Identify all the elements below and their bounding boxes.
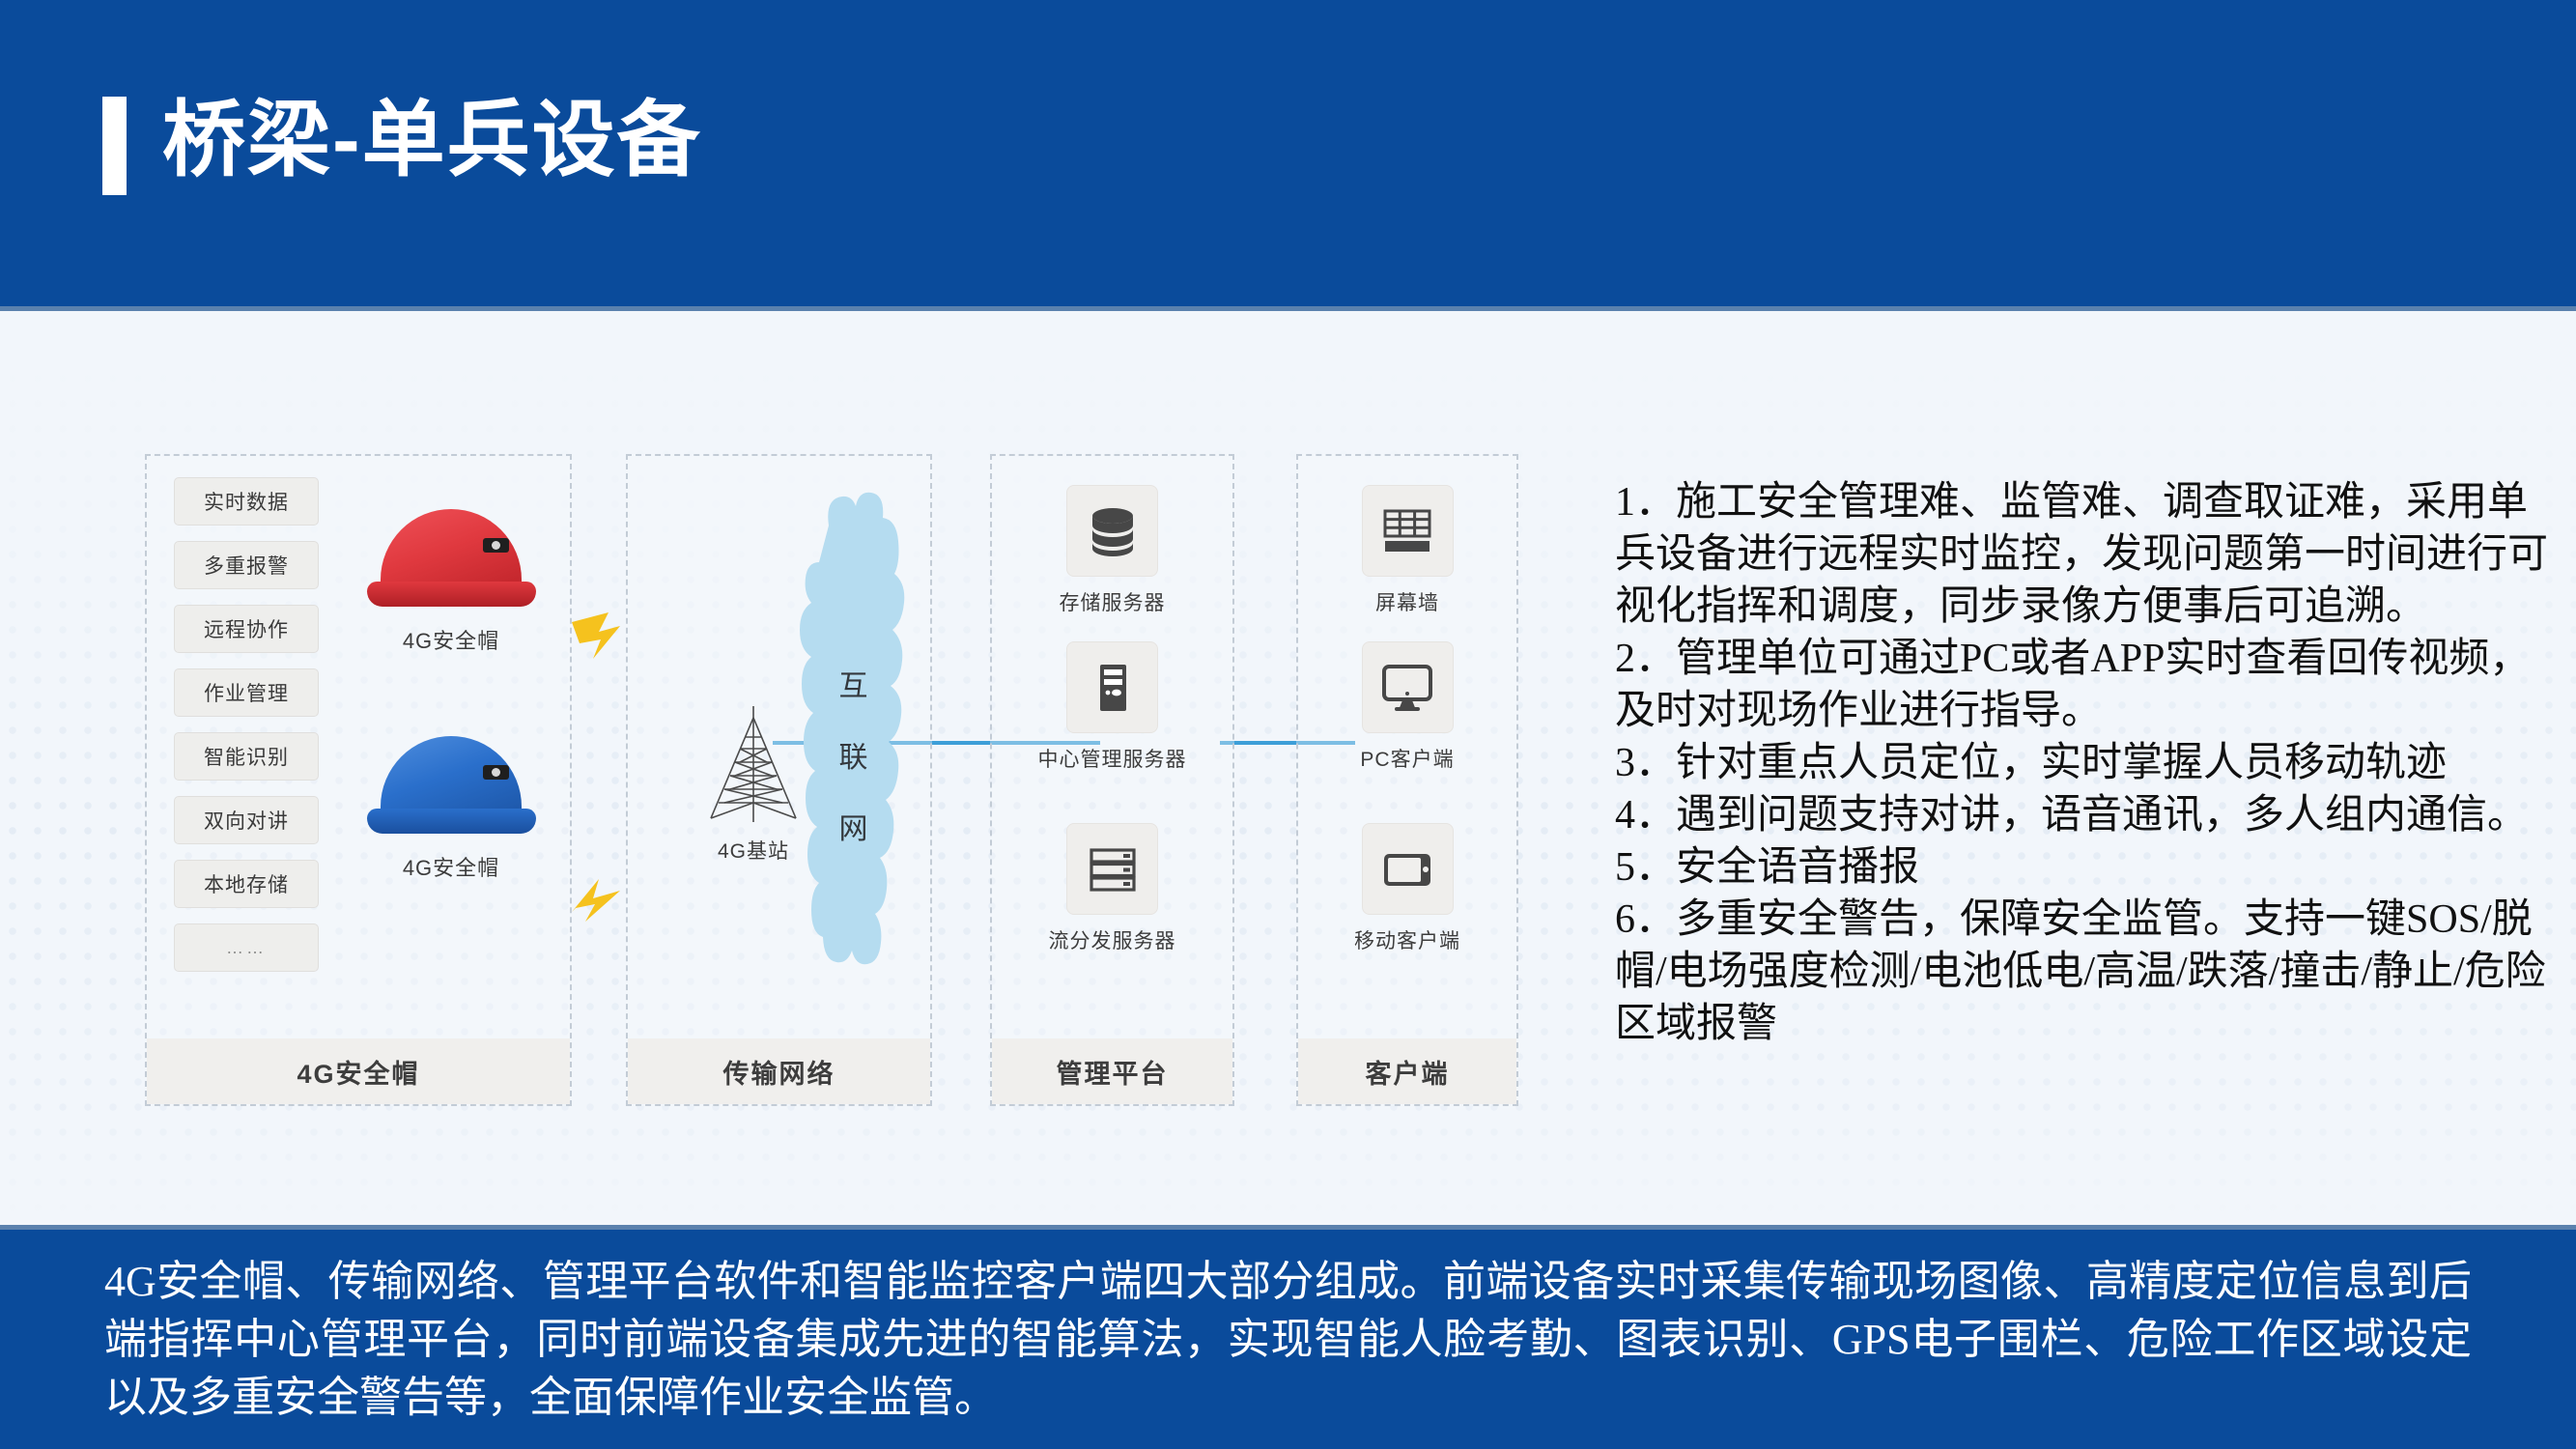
column-footer-platform: 管理平台 [992,1038,1232,1104]
video-wall-label: 屏幕墙 [1298,587,1516,616]
architecture-diagram: 实时数据 多重报警 远程协作 作业管理 智能识别 双向对讲 本地存储 …… 4G… [145,454,1584,1106]
feature-chip: 多重报警 [174,541,319,589]
mobile-client-label: 移动客户端 [1298,925,1516,954]
helmet-blue-icon [367,736,536,838]
helmet-feature-chip-list: 实时数据 多重报警 远程协作 作业管理 智能识别 双向对讲 本地存储 …… [174,477,317,987]
bullet-item: 2．管理单位可通过PC或者APP实时查看回传视频，及时对现场作业进行指导。 [1615,633,2562,737]
video-wall-device: 屏幕墙 [1298,485,1516,616]
cloud-char: 互 [800,651,908,723]
cloud-char: 网 [800,794,908,866]
bullet-item: 4．遇到问题支持对讲，语音通讯，多人组内通信。 [1615,789,2562,841]
central-management-server-label: 中心管理服务器 [992,744,1232,773]
helmet-red-icon [367,509,536,611]
diagram-column-client: 屏幕墙 PC客户端 [1296,454,1518,1106]
storage-server-device: 存储服务器 [992,485,1232,616]
helmet-blue-device: 4G安全帽 [354,736,548,882]
cell-tower-icon [701,702,806,826]
central-management-server-device: 中心管理服务器 [992,641,1232,773]
bullet-item: 1．施工安全管理难、监管难、调查取证难，采用单兵设备进行远程实时监控，发现问题第… [1615,476,2562,633]
summary-banner-text: 4G安全帽、传输网络、管理平台软件和智能监控客户端四大部分组成。前端设备实时采集… [0,1253,2576,1427]
feature-chip: 双向对讲 [174,796,319,844]
helmet-camera-module [483,538,509,553]
slide-header: 桥梁-单兵设备 [0,0,2576,311]
column-footer-helmet: 4G安全帽 [147,1038,570,1104]
storage-server-label: 存储服务器 [992,587,1232,616]
tower-server-icon [1066,641,1158,733]
rack-server-icon [1066,823,1158,915]
helmet-blue-label: 4G安全帽 [354,851,548,882]
cloud-char: 联 [800,723,908,794]
feature-chip: 实时数据 [174,477,319,526]
page-title: 桥梁-单兵设备 [162,77,702,203]
column-footer-client: 客户端 [1298,1038,1516,1104]
diagram-column-helmet: 实时数据 多重报警 远程协作 作业管理 智能识别 双向对讲 本地存储 …… 4G… [145,454,572,1106]
diagram-column-platform: 存储服务器 中心管理服务器 [990,454,1234,1106]
feature-chip: 本地存储 [174,860,319,908]
stream-distribution-server-label: 流分发服务器 [992,925,1232,954]
video-wall-icon [1362,485,1454,577]
title-accent-bar [102,97,127,195]
bullet-item: 5．安全语音播报 [1615,841,2562,894]
monitor-icon [1362,641,1454,733]
internet-cloud-label: 互 联 网 [800,651,908,866]
feature-chip: 远程协作 [174,605,319,653]
column-footer-network: 传输网络 [628,1038,930,1104]
pc-client-device: PC客户端 [1298,641,1516,773]
internet-cloud-icon: 互 联 网 [800,487,908,1013]
bullet-item: 3．针对重点人员定位，实时掌握人员移动轨迹 [1615,737,2562,789]
helmet-red-label: 4G安全帽 [354,624,548,655]
helmet-camera-module [483,765,509,780]
feature-chip-ellipsis: …… [174,923,319,972]
stream-distribution-server-device: 流分发服务器 [992,823,1232,954]
pc-client-label: PC客户端 [1298,744,1516,773]
slide-root: 桥梁-单兵设备 实时数据 多重报警 远程协作 作业管理 智能识别 双向对讲 本地… [0,0,2576,1449]
bullet-item: 6．多重安全警告，保障安全监管。支持一键SOS/脱帽/电场强度检测/电池低电/高… [1615,894,2562,1050]
feature-description-list: 1．施工安全管理难、监管难、调查取证难，采用单兵设备进行远程实时监控，发现问题第… [1615,476,2562,1050]
feature-chip: 作业管理 [174,668,319,717]
diagram-column-network: 4G基站 互 联 网 传输网络 [626,454,932,1106]
summary-banner: 4G安全帽、传输网络、管理平台软件和智能监控客户端四大部分组成。前端设备实时采集… [0,1225,2576,1449]
database-icon [1066,485,1158,577]
tablet-icon [1362,823,1454,915]
helmet-red-device: 4G安全帽 [354,509,548,655]
feature-chip: 智能识别 [174,732,319,781]
mobile-client-device: 移动客户端 [1298,823,1516,954]
